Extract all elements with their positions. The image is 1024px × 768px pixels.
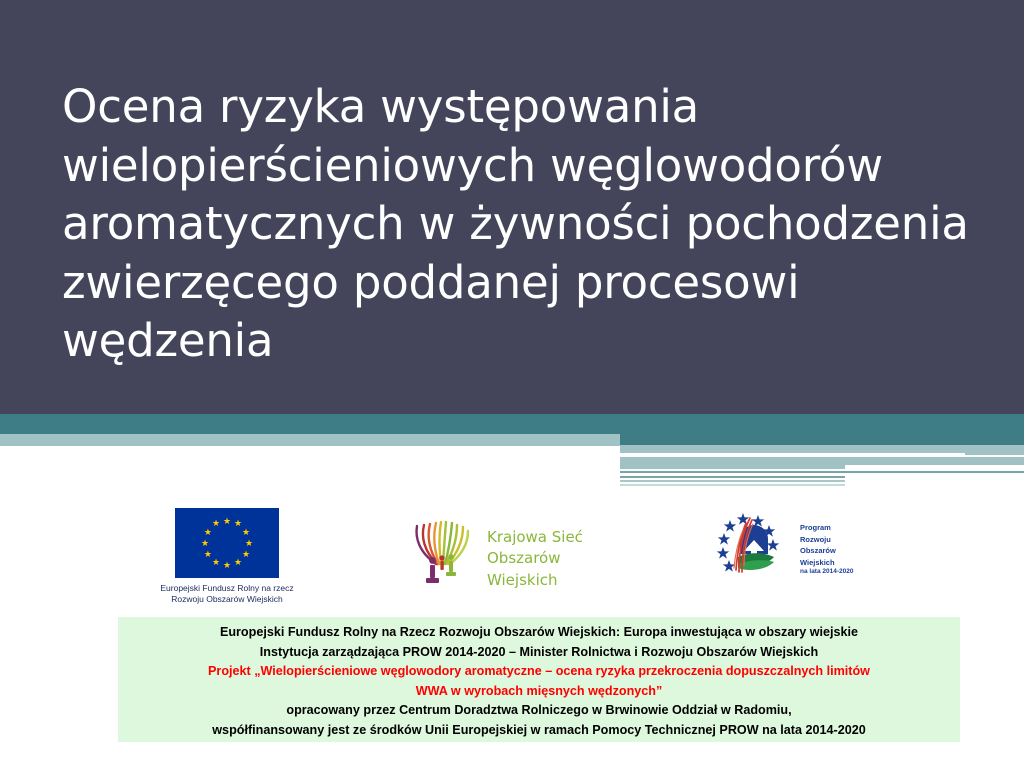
- prow-logo-text: Program Rozwoju Obszarów Wiejskich: [800, 522, 836, 569]
- funding-note-line: Projekt „Wielopierścieniowe węglowodory …: [118, 662, 960, 701]
- presentation-slide: Ocena ryzyka występowania wielopierścien…: [0, 0, 1024, 768]
- band-hairline-2: [620, 476, 845, 478]
- eu-star-icon: ★: [234, 558, 243, 567]
- eu-star-icon: ★: [201, 539, 210, 548]
- eu-star-icon: ★: [245, 539, 254, 548]
- eu-star-icon: ★: [212, 558, 221, 567]
- funding-note-line: Instytucja zarządzająca PROW 2014-2020 –…: [118, 643, 960, 663]
- band-stripe-teal-primary: [0, 414, 1024, 434]
- prow-logo: Program Rozwoju Obszarów Wiejskich na la…: [712, 506, 882, 588]
- band-hairline-3: [620, 480, 845, 482]
- eu-star-icon: ★: [203, 550, 212, 559]
- band-stripe-teal-right: [620, 434, 1024, 445]
- band-hairline-1: [620, 471, 1024, 473]
- eu-flag-icon: ★★★★★★★★★★★★: [175, 508, 279, 578]
- band-stripe-light-left: [0, 434, 620, 446]
- funding-note-line: Europejski Fundusz Rolny na Rzecz Rozwoj…: [118, 623, 960, 643]
- prow-logo-years: na lata 2014-2020: [800, 568, 853, 575]
- sponsor-logo-row: ★★★★★★★★★★★★ Europejski Fundusz Rolny na…: [0, 500, 1024, 605]
- band-gap-right-1: [620, 453, 965, 457]
- ksow-logo-text: Krajowa Sieć Obszarów Wiejskich: [487, 527, 635, 591]
- funding-note-line: opracowany przez Centrum Doradztwa Rolni…: [118, 701, 960, 721]
- funding-note-line: współfinansowany jest ze środków Unii Eu…: [118, 721, 960, 741]
- band-stripe-light-right-2: [620, 457, 1024, 469]
- eu-star-icon: ★: [223, 517, 232, 526]
- band-hairline-4: [620, 484, 845, 486]
- eu-star-icon: ★: [212, 519, 221, 528]
- eu-star-icon: ★: [242, 528, 251, 537]
- band-gap-right-2: [845, 465, 1024, 470]
- ksow-fan-icon: [405, 508, 483, 586]
- eu-star-icon: ★: [223, 561, 232, 570]
- funding-note: Europejski Fundusz Rolny na Rzecz Rozwoj…: [118, 617, 960, 742]
- band-stripe-light-right-1: [620, 445, 1024, 455]
- eu-star-icon: ★: [203, 528, 212, 537]
- eu-star-icon: ★: [242, 550, 251, 559]
- eu-fund-logo: ★★★★★★★★★★★★ Europejski Fundusz Rolny na…: [152, 508, 302, 606]
- eu-fund-logo-caption: Europejski Fundusz Rolny na rzecz Rozwoj…: [152, 583, 302, 606]
- page-title: Ocena ryzyka występowania wielopierścien…: [62, 78, 972, 371]
- ksow-logo: Krajowa Sieć Obszarów Wiejskich: [405, 508, 635, 588]
- prow-emblem-icon: [712, 506, 796, 584]
